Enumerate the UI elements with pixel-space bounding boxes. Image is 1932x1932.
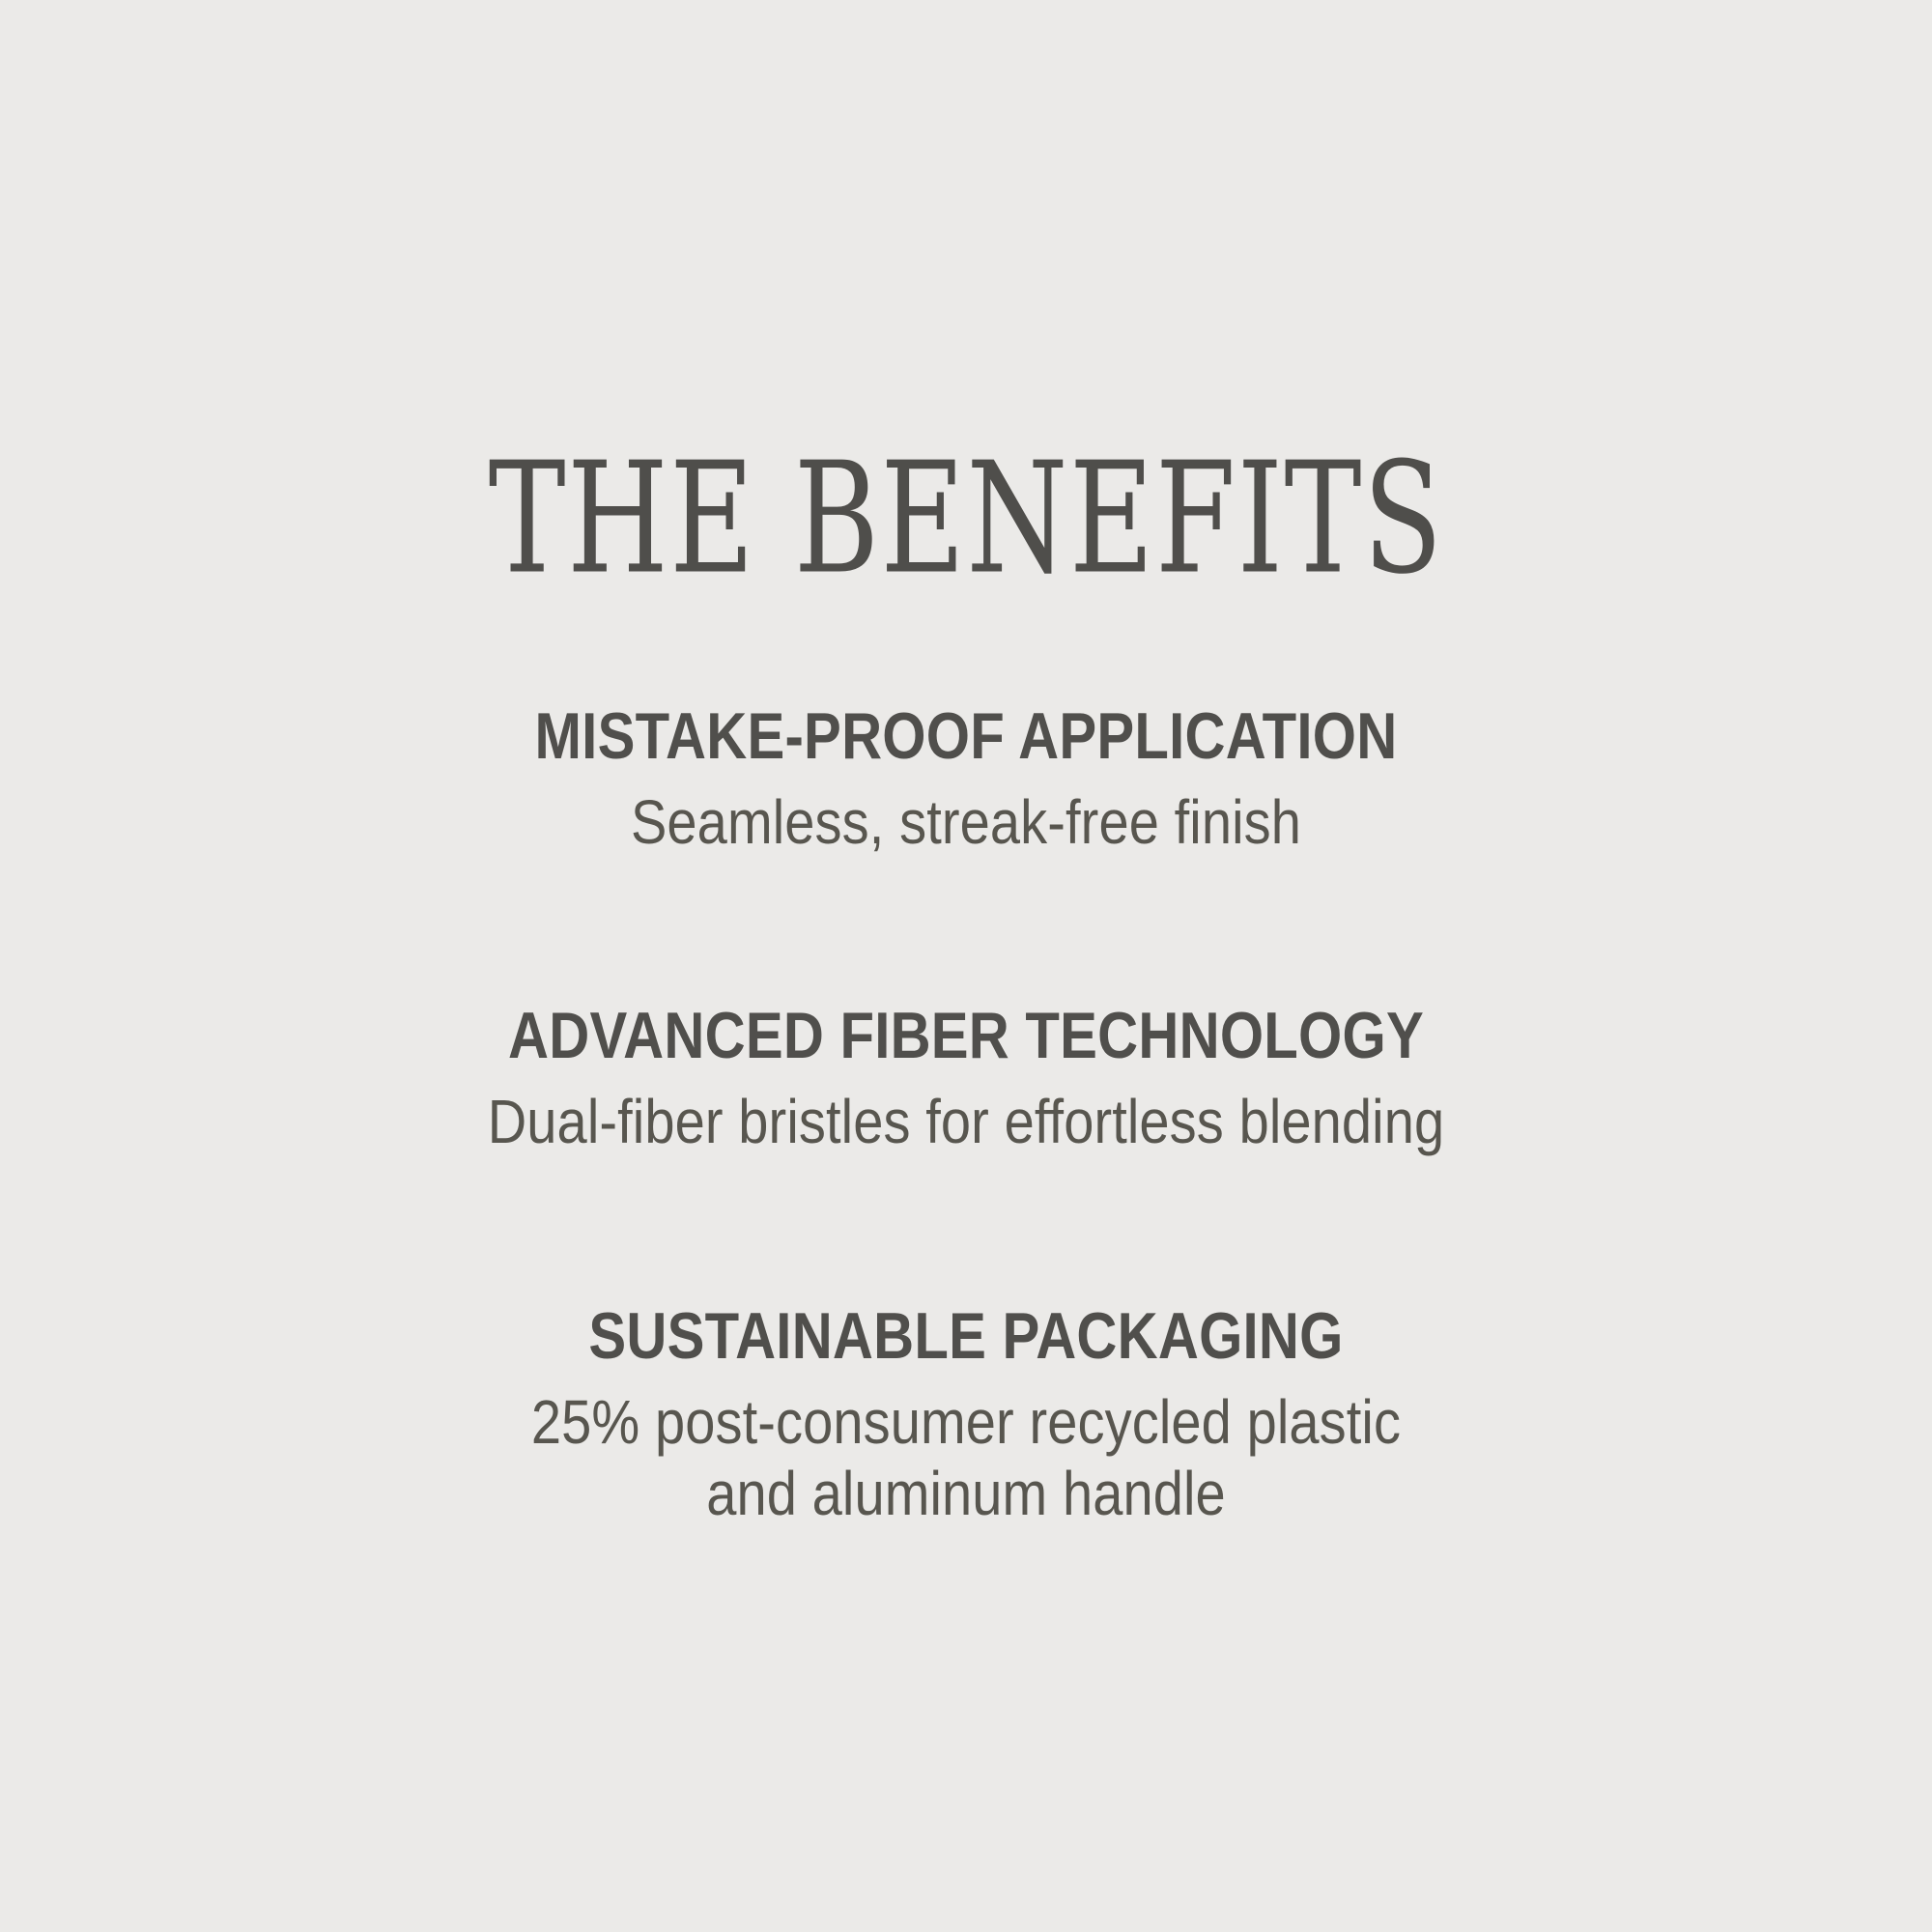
- benefit-description: Dual-fiber bristles for effortless blend…: [121, 1086, 1811, 1157]
- benefit-description: 25% post-consumer recycled plastic and a…: [121, 1386, 1811, 1529]
- benefit-description-line: and aluminum handle: [121, 1458, 1811, 1529]
- benefit-description-line: Seamless, streak-free finish: [121, 786, 1811, 858]
- benefit-description: Seamless, streak-free finish: [121, 786, 1811, 858]
- benefit-item-sustainable-packaging: SUSTAINABLE PACKAGING 25% post-consumer …: [0, 1301, 1932, 1530]
- page-title: THE BENEFITS: [489, 442, 1444, 596]
- benefit-description-line: Dual-fiber bristles for effortless blend…: [121, 1086, 1811, 1157]
- benefit-description-line: 25% post-consumer recycled plastic: [121, 1386, 1811, 1458]
- benefit-item-advanced-fiber-technology: ADVANCED FIBER TECHNOLOGY Dual-fiber bri…: [0, 1001, 1932, 1157]
- benefit-heading: ADVANCED FIBER TECHNOLOGY: [140, 1001, 1792, 1070]
- benefit-heading: MISTAKE-PROOF APPLICATION: [140, 701, 1792, 771]
- benefits-panel: THE BENEFITS MISTAKE-PROOF APPLICATION S…: [0, 0, 1932, 1932]
- benefits-list: MISTAKE-PROOF APPLICATION Seamless, stre…: [0, 701, 1932, 1529]
- benefit-item-mistake-proof-application: MISTAKE-PROOF APPLICATION Seamless, stre…: [0, 701, 1932, 858]
- benefit-heading: SUSTAINABLE PACKAGING: [140, 1301, 1792, 1371]
